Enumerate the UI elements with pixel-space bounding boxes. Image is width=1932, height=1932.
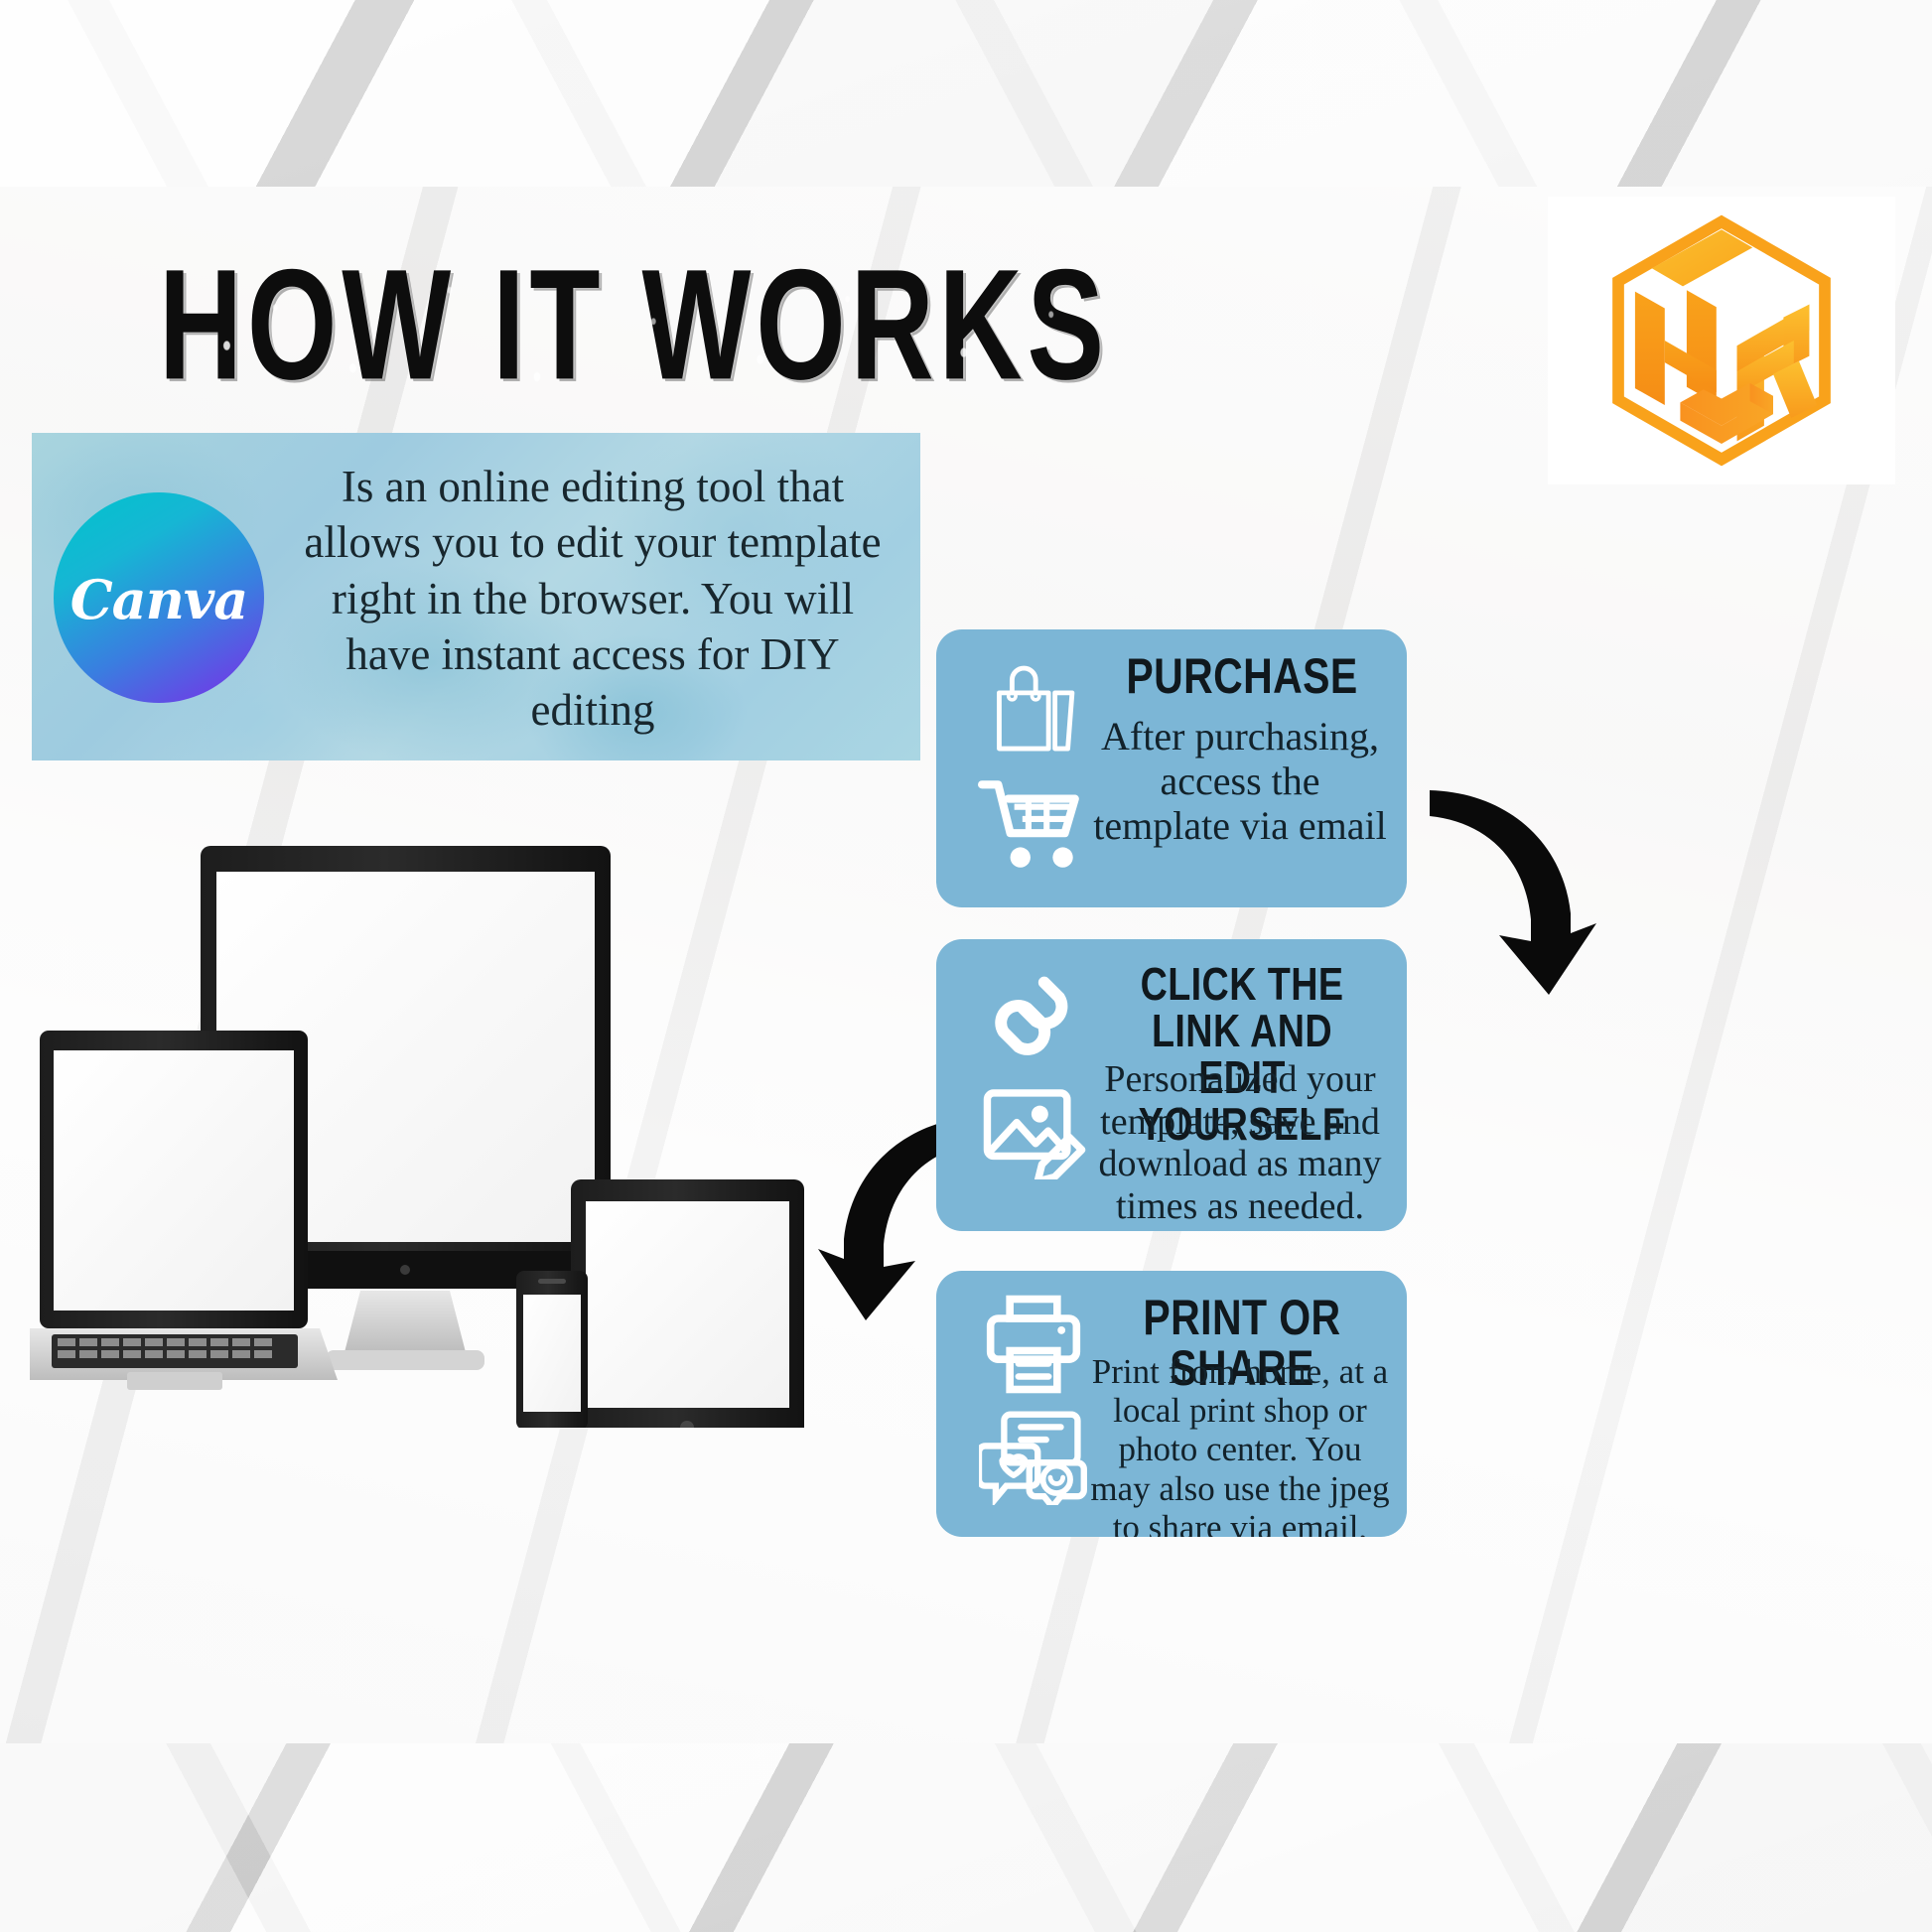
chain-link-icon [980, 963, 1087, 1066]
step-card-edit[interactable]: CLICK THE LINK AND EDIT YOURSELF Persona… [936, 939, 1407, 1231]
card-body: Print from home, at a local print shop o… [1087, 1352, 1393, 1537]
card-heading: PURCHASE [1122, 651, 1363, 702]
card-body: After purchasing, access the template vi… [1087, 715, 1393, 848]
card-body: Personalized your template, save and dow… [1087, 1058, 1393, 1227]
step-card-print[interactable]: PRINT OR SHARE Print from home, at a loc… [936, 1271, 1407, 1537]
page-title: HOW IT WORKS [159, 246, 1109, 403]
canva-description: Is an online editing tool that allows yo… [285, 459, 900, 738]
purchase-icon-group [964, 653, 1103, 872]
step-card-purchase[interactable]: PURCHASE After purchasing, access the te… [936, 629, 1407, 907]
laptop-trackpad [127, 1372, 222, 1390]
phone-screen [523, 1295, 581, 1412]
monitor-stand-neck [345, 1291, 466, 1352]
printer-icon [982, 1295, 1085, 1394]
shopping-bag-icon [980, 653, 1087, 762]
chat-share-icon [979, 1408, 1088, 1505]
canva-wordmark: Canva [70, 568, 248, 631]
device-mockup [30, 842, 814, 1428]
image-edit-icon [979, 1080, 1088, 1179]
edit-icon-group [964, 963, 1103, 1179]
shopping-cart-icon [978, 776, 1089, 872]
laptop-screen [54, 1050, 294, 1311]
infographic-canvas: HOW IT WORKS [0, 187, 1932, 1743]
hrg-cube-logo-icon [1592, 211, 1851, 470]
canva-logo-badge: Canva [54, 492, 264, 703]
canva-info-panel: Canva Is an online editing tool that all… [32, 433, 920, 760]
monitor-stand-base [326, 1350, 484, 1370]
tablet-screen [586, 1201, 789, 1408]
arrow-purchase-to-edit [1422, 774, 1600, 1005]
curved-arrow-down-right-icon [1422, 774, 1600, 1005]
brand-logo-box [1548, 197, 1895, 484]
devices-illustration-icon [30, 842, 814, 1428]
print-icon-group [964, 1295, 1103, 1505]
